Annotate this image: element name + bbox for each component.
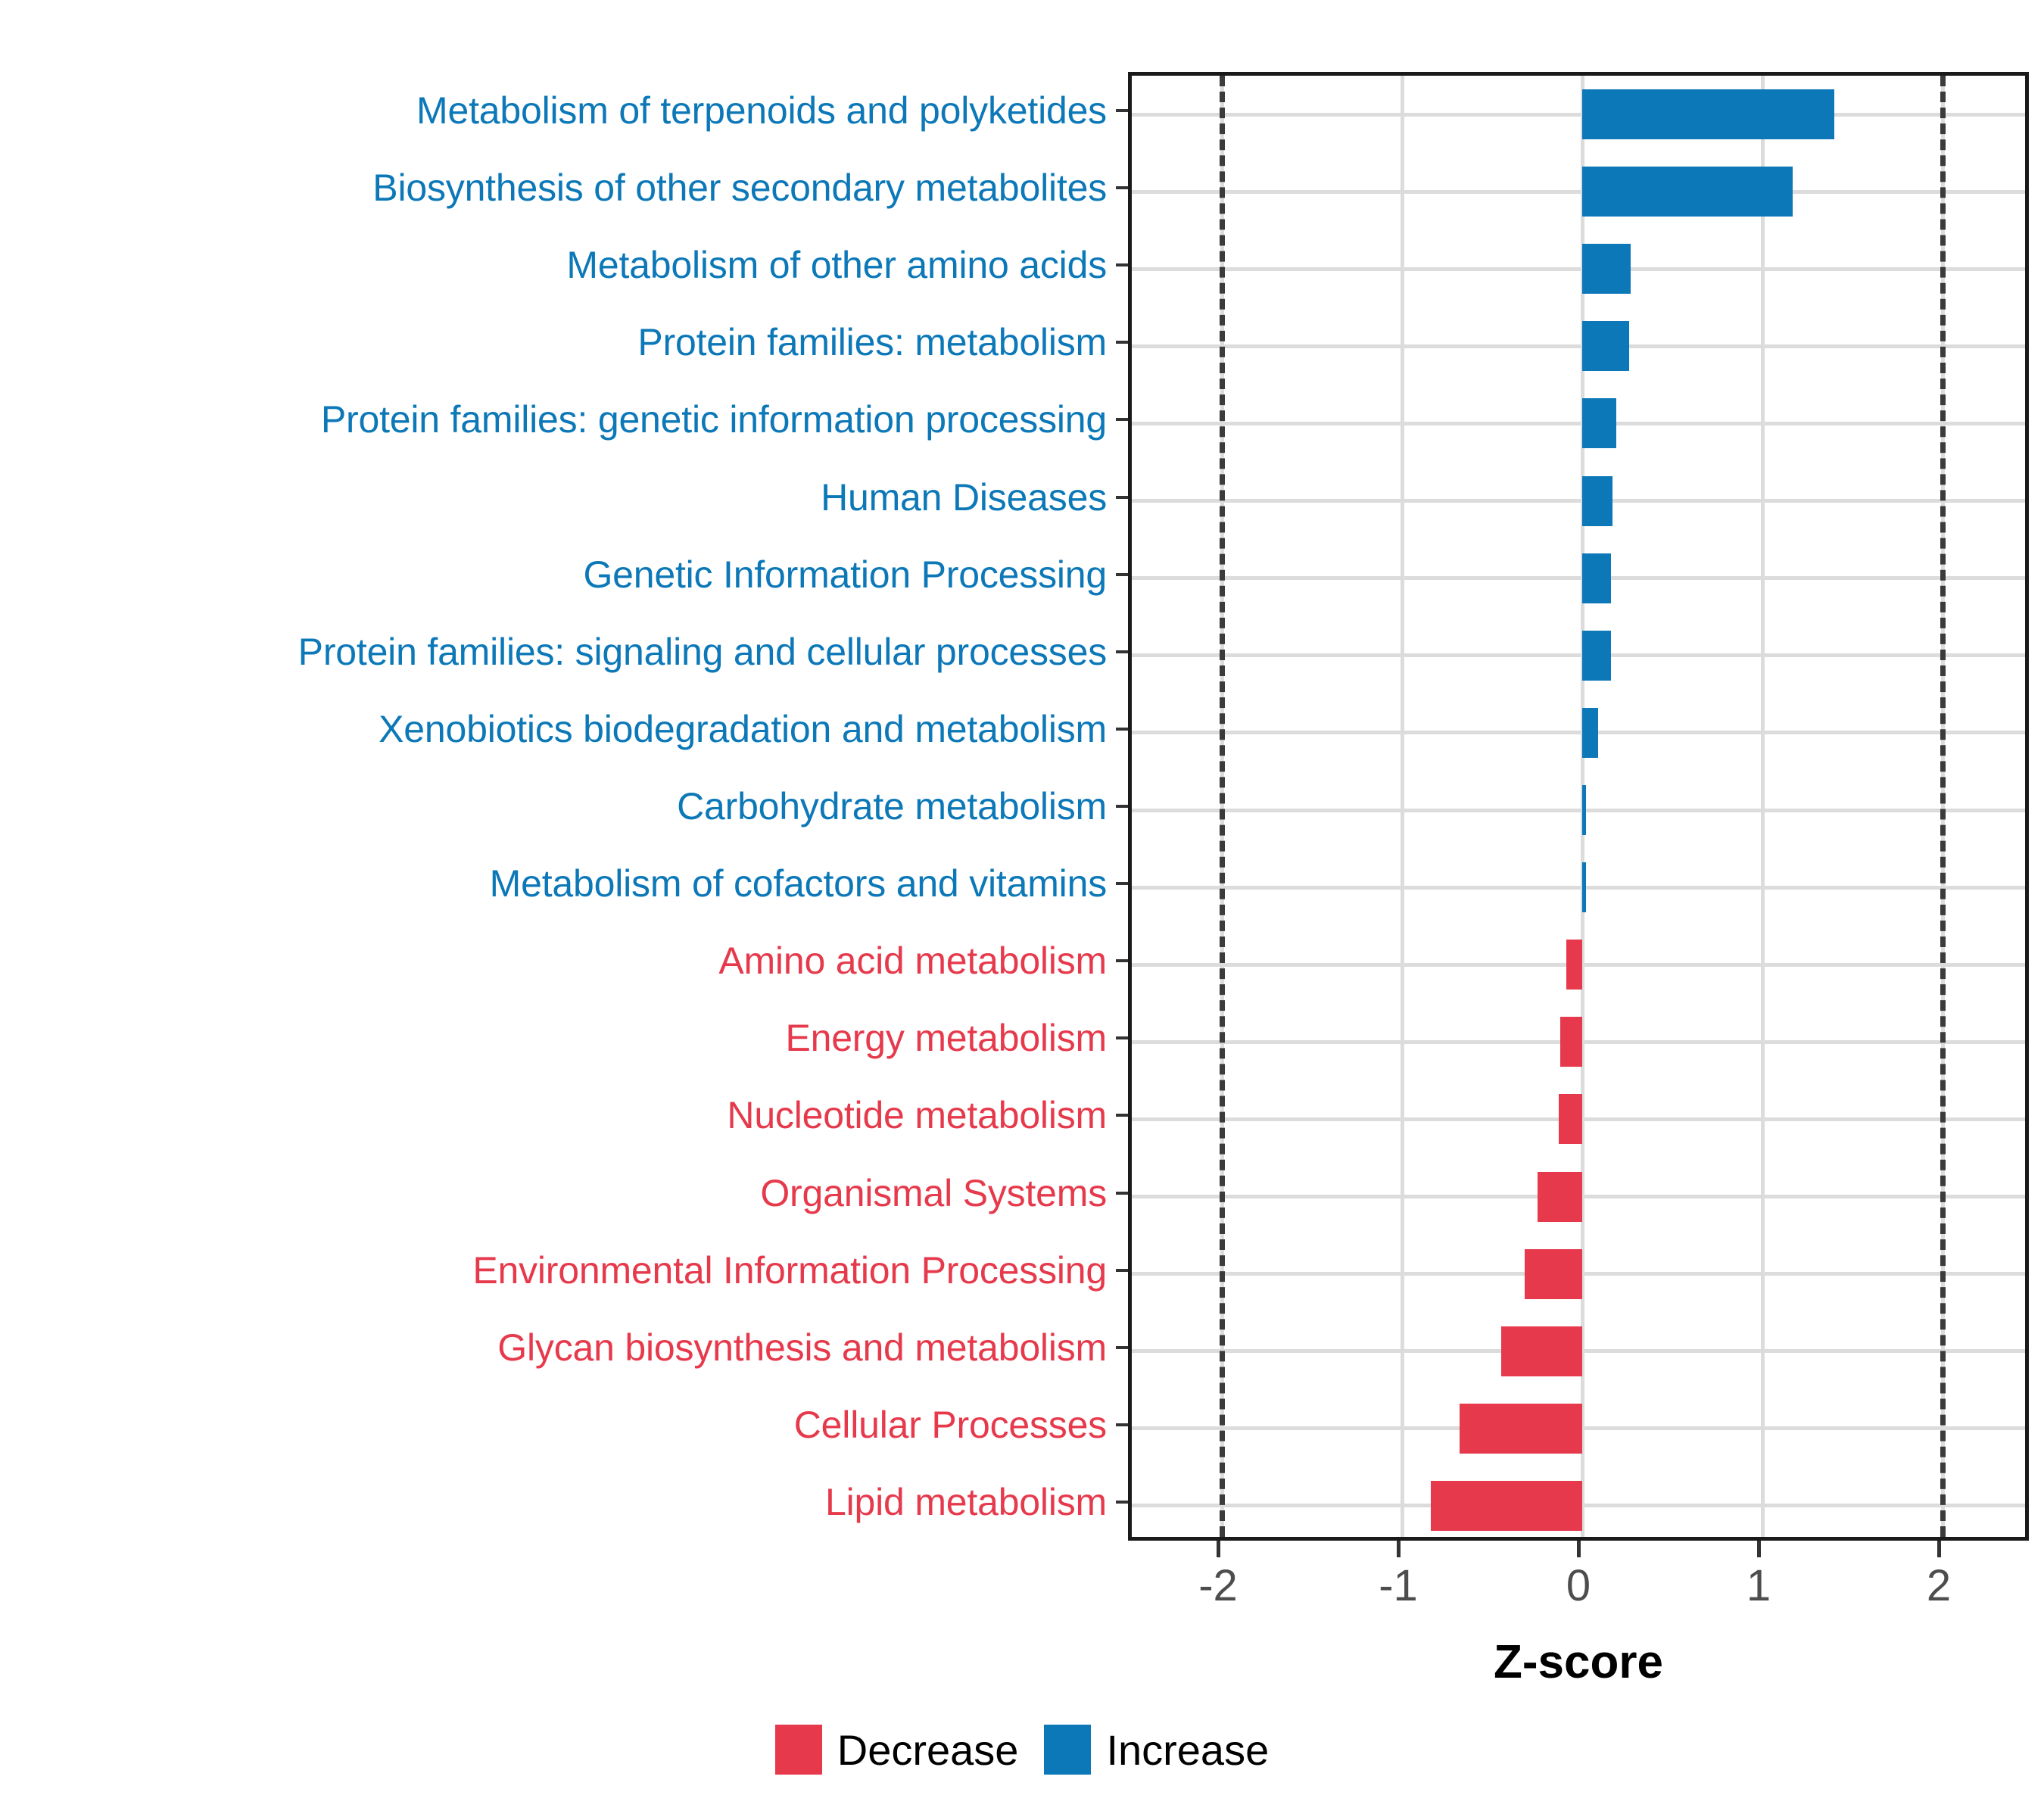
horizontal-gridline xyxy=(1132,731,2025,734)
threshold-line xyxy=(1220,76,1225,1537)
category-label: Biosynthesis of other secondary metaboli… xyxy=(372,169,1107,207)
x-axis-tick-label: 0 xyxy=(1566,1560,1591,1611)
bar xyxy=(1582,862,1586,912)
horizontal-gridline xyxy=(1132,576,2025,580)
bar xyxy=(1538,1172,1583,1222)
x-axis-tick-label: 2 xyxy=(1927,1560,1951,1611)
category-label: Lipid metabolism xyxy=(825,1483,1107,1521)
category-label-row: Metabolism of terpenoids and polyketides xyxy=(416,72,1128,149)
category-label: Metabolism of terpenoids and polyketides xyxy=(416,92,1107,129)
category-label-row: Carbohydrate metabolism xyxy=(677,768,1128,845)
bar xyxy=(1566,940,1582,990)
category-label-row: Organismal Systems xyxy=(760,1154,1128,1231)
category-tick-mark xyxy=(1116,109,1128,112)
category-label: Glycan biosynthesis and metabolism xyxy=(497,1329,1107,1367)
x-axis-tick-label: -1 xyxy=(1379,1560,1418,1611)
plot-panel xyxy=(1128,72,2029,1541)
category-tick-mark xyxy=(1116,650,1128,653)
x-axis-tick-label: 1 xyxy=(1746,1560,1771,1611)
legend-item[interactable]: Increase xyxy=(1044,1725,1269,1775)
category-label: Metabolism of cofactors and vitamins xyxy=(490,865,1107,902)
bar xyxy=(1460,1404,1582,1454)
category-tick-mark xyxy=(1116,573,1128,576)
category-label: Cellular Processes xyxy=(794,1406,1107,1444)
category-label-row: Energy metabolism xyxy=(785,999,1128,1077)
category-label-row: Metabolism of other amino acids xyxy=(566,226,1128,304)
bar xyxy=(1582,321,1629,371)
bar xyxy=(1582,476,1612,526)
bar xyxy=(1582,708,1598,758)
category-label: Protein families: metabolism xyxy=(637,323,1107,361)
category-label-row: Nucleotide metabolism xyxy=(727,1077,1128,1154)
horizontal-gridline xyxy=(1132,809,2025,812)
category-tick-mark xyxy=(1116,1423,1128,1426)
bar xyxy=(1560,1017,1582,1067)
category-tick-mark xyxy=(1116,1501,1128,1504)
x-axis-tick xyxy=(1577,1541,1581,1557)
category-tick-mark xyxy=(1116,186,1128,189)
vertical-gridline xyxy=(1761,76,1765,1537)
bar xyxy=(1525,1249,1582,1299)
horizontal-gridline xyxy=(1132,113,2025,117)
bar xyxy=(1431,1481,1582,1531)
horizontal-gridline xyxy=(1132,267,2025,271)
horizontal-gridline xyxy=(1132,190,2025,194)
category-label-row: Protein families: signaling and cellular… xyxy=(298,613,1128,690)
x-axis-tick xyxy=(1217,1541,1220,1557)
legend-swatch-increase xyxy=(1044,1725,1091,1775)
legend-label: Increase xyxy=(1106,1725,1269,1775)
category-tick-mark xyxy=(1116,1192,1128,1195)
bar xyxy=(1582,244,1631,294)
x-axis-title: Z-score xyxy=(1128,1635,2029,1689)
category-label-row: Glycan biosynthesis and metabolism xyxy=(497,1309,1128,1386)
bar xyxy=(1582,553,1611,603)
category-tick-mark xyxy=(1116,341,1128,344)
category-label: Metabolism of other amino acids xyxy=(566,246,1107,284)
category-label-row: Protein families: genetic information pr… xyxy=(321,381,1128,458)
x-axis-tick xyxy=(1937,1541,1941,1557)
category-label-row: Protein families: metabolism xyxy=(637,304,1128,381)
category-label: Nucleotide metabolism xyxy=(727,1096,1107,1134)
bar xyxy=(1582,398,1616,448)
category-label: Energy metabolism xyxy=(785,1019,1107,1057)
category-label-row: Lipid metabolism xyxy=(825,1463,1128,1541)
category-label: Carbohydrate metabolism xyxy=(677,787,1107,825)
category-label-row: Human Diseases xyxy=(821,459,1128,536)
legend-swatch-decrease xyxy=(775,1725,822,1775)
category-tick-mark xyxy=(1116,728,1128,731)
x-axis-tick xyxy=(1397,1541,1401,1557)
category-label-row: Metabolism of cofactors and vitamins xyxy=(490,845,1128,922)
horizontal-gridline xyxy=(1132,344,2025,348)
chart-figure: Metabolism of terpenoids and polyketides… xyxy=(0,0,2044,1817)
bar xyxy=(1501,1326,1582,1376)
category-tick-mark xyxy=(1116,1346,1128,1349)
category-label: Protein families: genetic information pr… xyxy=(321,400,1107,438)
category-tick-mark xyxy=(1116,263,1128,266)
bar xyxy=(1582,167,1793,217)
bar xyxy=(1582,631,1611,681)
category-tick-mark xyxy=(1116,1114,1128,1117)
category-axis-labels: Metabolism of terpenoids and polyketides… xyxy=(0,72,1128,1541)
category-label-row: Cellular Processes xyxy=(794,1386,1128,1463)
category-tick-mark xyxy=(1116,1269,1128,1272)
category-label-row: Xenobiotics biodegradation and metabolis… xyxy=(379,690,1128,768)
plot-area xyxy=(1132,76,2025,1537)
horizontal-gridline xyxy=(1132,422,2025,425)
category-label-row: Environmental Information Processing xyxy=(472,1232,1128,1309)
horizontal-gridline xyxy=(1132,499,2025,503)
x-axis-tick-label: -2 xyxy=(1198,1560,1238,1611)
category-tick-mark xyxy=(1116,882,1128,885)
bar xyxy=(1582,785,1586,835)
category-label: Organismal Systems xyxy=(760,1174,1107,1212)
threshold-line xyxy=(1940,76,1946,1537)
legend-label: Decrease xyxy=(837,1725,1019,1775)
category-label: Environmental Information Processing xyxy=(472,1251,1107,1289)
category-tick-mark xyxy=(1116,959,1128,962)
category-label-row: Biosynthesis of other secondary metaboli… xyxy=(372,149,1128,226)
x-axis-tick xyxy=(1757,1541,1761,1557)
category-tick-mark xyxy=(1116,496,1128,499)
category-tick-mark xyxy=(1116,1036,1128,1039)
category-label-row: Amino acid metabolism xyxy=(718,922,1128,999)
vertical-gridline xyxy=(1401,76,1404,1537)
bar xyxy=(1582,89,1834,139)
category-label: Genetic Information Processing xyxy=(583,556,1107,594)
category-label-row: Genetic Information Processing xyxy=(583,536,1128,613)
category-tick-mark xyxy=(1116,805,1128,808)
category-label: Amino acid metabolism xyxy=(718,942,1107,980)
chart-legend: DecreaseIncrease xyxy=(0,1725,2044,1775)
category-label: Human Diseases xyxy=(821,478,1107,516)
bar xyxy=(1559,1094,1582,1144)
category-label: Protein families: signaling and cellular… xyxy=(298,633,1107,671)
category-tick-mark xyxy=(1116,418,1128,421)
legend-item[interactable]: Decrease xyxy=(775,1725,1019,1775)
horizontal-gridline xyxy=(1132,886,2025,890)
horizontal-gridline xyxy=(1132,653,2025,657)
category-label: Xenobiotics biodegradation and metabolis… xyxy=(379,710,1107,748)
